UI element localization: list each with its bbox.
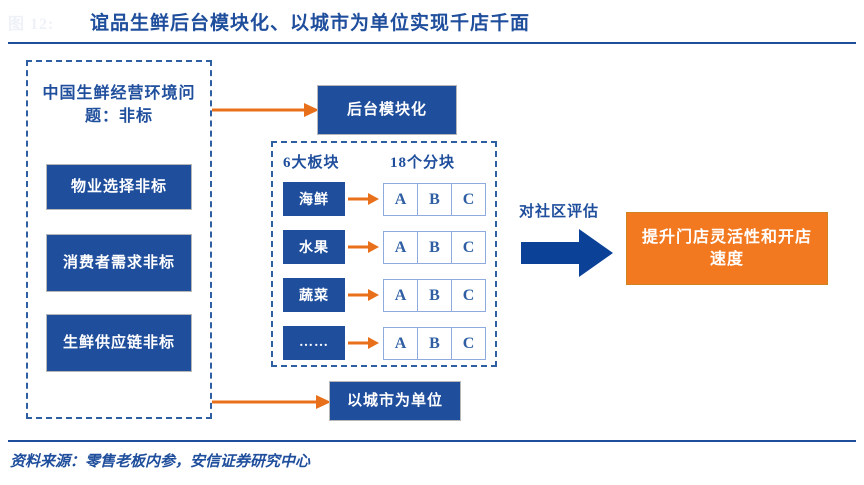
issue-box-consumer-demand: 消费者需求非标 xyxy=(46,234,192,292)
arrow-right-icon-to-city-unit xyxy=(212,393,332,411)
subblock-cell: A xyxy=(384,280,418,311)
subblock-row-other: A B C xyxy=(383,327,486,360)
subblock-row-vegetables: A B C xyxy=(383,279,486,312)
subblock-cell: C xyxy=(452,232,485,263)
subblock-cell: A xyxy=(384,184,418,215)
arrow-right-icon-row-3 xyxy=(348,337,380,349)
page-title: 谊品生鲜后台模块化、以城市为单位实现千店千面 xyxy=(90,8,530,35)
subblock-cell: A xyxy=(384,232,418,263)
arrow-right-icon-row-1 xyxy=(348,241,380,253)
category-box-ellipsis: …… xyxy=(283,326,345,360)
arrow-right-icon-row-0 xyxy=(348,193,380,205)
arrow-right-icon-to-backend-module xyxy=(212,101,320,119)
category-box-fruit: 水果 xyxy=(283,230,345,264)
subblock-cell: A xyxy=(384,328,418,359)
subblock-cell: C xyxy=(452,280,485,311)
issue-box-property-selection: 物业选择非标 xyxy=(46,164,192,210)
subblock-cell: C xyxy=(452,328,485,359)
arrow-right-icon-row-2 xyxy=(348,289,380,301)
grid-header-subblocks: 18个分块 xyxy=(390,151,455,172)
source-note: 资料来源：零售老板内参，安信证券研究中心 xyxy=(10,450,310,471)
figure-canvas: 图 12: 谊品生鲜后台模块化、以城市为单位实现千店千面 中国生鲜经营环境问题：… xyxy=(0,0,864,485)
title-divider xyxy=(8,42,856,44)
category-box-vegetables: 蔬菜 xyxy=(283,278,345,312)
footer-divider xyxy=(8,440,856,442)
subblock-row-fruit: A B C xyxy=(383,231,486,264)
problem-panel-heading: 中国生鲜经营环境问题：非标 xyxy=(34,82,204,128)
subblock-cell: B xyxy=(418,328,452,359)
assessment-caption: 对社区评估 xyxy=(519,200,599,221)
category-box-seafood: 海鲜 xyxy=(283,182,345,216)
subblock-cell: C xyxy=(452,184,485,215)
result-box: 提升门店灵活性和开店速度 xyxy=(626,212,828,285)
city-unit-box: 以城市为单位 xyxy=(329,381,461,421)
figure-number-label: 图 12: xyxy=(8,10,54,34)
subblock-cell: B xyxy=(418,280,452,311)
issue-box-supply-chain: 生鲜供应链非标 xyxy=(46,314,192,372)
backend-module-box: 后台模块化 xyxy=(317,85,457,135)
subblock-cell: B xyxy=(418,184,452,215)
block-arrow-right-icon xyxy=(521,229,613,277)
grid-header-sections: 6大板块 xyxy=(283,151,340,172)
subblock-row-seafood: A B C xyxy=(383,183,486,216)
subblock-cell: B xyxy=(418,232,452,263)
